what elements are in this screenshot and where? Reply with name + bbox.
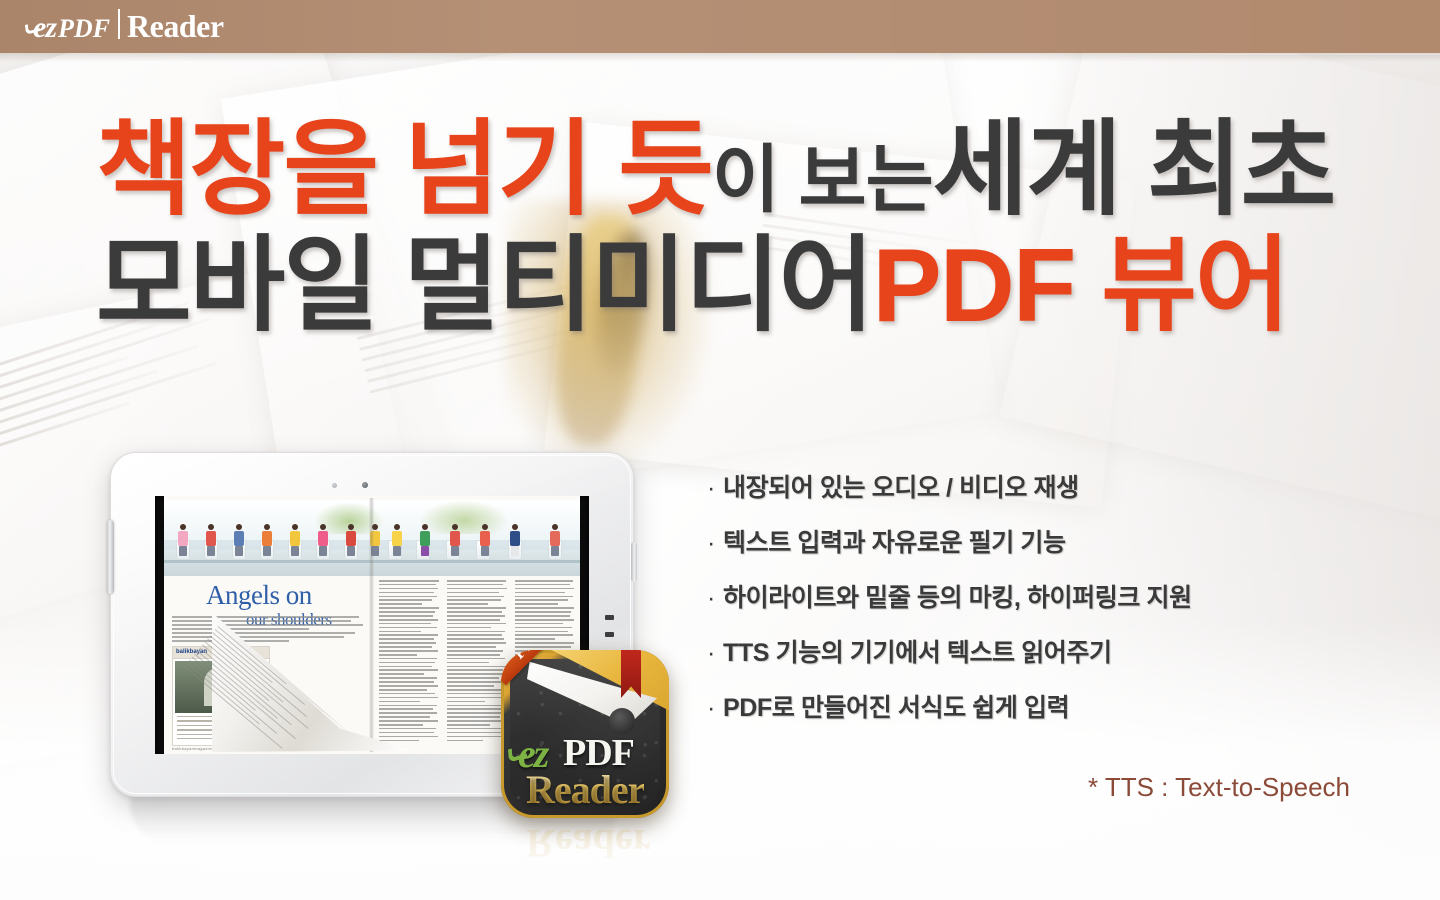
magazine-ad-form (173, 716, 269, 739)
app-icon-reader-text: Reader (526, 766, 644, 813)
list-item: · TTS 기능의 기기에서 텍스트 읽어주기 (705, 638, 1365, 668)
photo-greenery (419, 500, 509, 534)
magazine-ad-box: balikbayan (172, 646, 270, 746)
headline-highlight-1: 책장을 넘기 듯 (96, 112, 712, 228)
list-item: · 내장되어 있는 오디오 / 비디오 재생 (705, 473, 1365, 503)
logo-divider (118, 9, 120, 39)
feature-text: 하이라이트와 밑줄 등의 마킹, 하이퍼링크 지원 (723, 583, 1192, 613)
bullet-icon: · (705, 473, 723, 503)
app-icon-reflection: Reader (501, 820, 669, 880)
tablet-sensor-icon (332, 483, 337, 488)
footnote: * TTS : Text-to-Speech (705, 772, 1350, 803)
app-icon[interactable]: PRO ez PDF Reader (501, 650, 669, 818)
magazine-ad-image (175, 661, 267, 713)
magazine-gutter (369, 498, 374, 752)
bullet-icon: · (705, 693, 723, 723)
logo-ez-text: ez (33, 11, 56, 45)
tablet-camera-icon (362, 482, 368, 488)
logo-reader-text: Reader (127, 8, 224, 45)
bullet-icon: · (705, 638, 723, 668)
headline-mid-1: 이 보는 (712, 138, 933, 221)
headline-highlight-2: PDF 뷰어 (872, 228, 1288, 344)
feature-text: 내장되어 있는 오디오 / 비디오 재생 (723, 473, 1079, 503)
feature-text: 텍스트 입력과 자유로운 필기 기능 (723, 528, 1066, 558)
magazine-left-text (172, 616, 367, 644)
page-title: 책장을 넘기 듯이 보는세계 최초 모바일 멀티미디어PDF 뷰어 (96, 118, 1386, 338)
header-dropshadow (0, 53, 1440, 62)
bullet-icon: · (705, 528, 723, 558)
headline-line-2: 모바일 멀티미디어PDF 뷰어 (96, 234, 1386, 338)
app-icon-reflection-text: Reader (526, 820, 669, 867)
brand-logo: ez PDF Reader (33, 7, 224, 47)
feature-text: TTS 기능의 기기에서 텍스트 읽어주기 (723, 638, 1112, 668)
list-item: · 하이라이트와 밑줄 등의 마킹, 하이퍼링크 지원 (705, 583, 1365, 613)
tablet-power-button[interactable] (107, 520, 114, 594)
bullet-icon: · (705, 583, 723, 613)
headline-dark-2: 모바일 멀티미디어 (96, 228, 872, 344)
tablet-volume-button[interactable] (631, 542, 637, 582)
headline-line-1: 책장을 넘기 듯이 보는세계 최초 (96, 118, 1386, 222)
magazine-ad-headline: balikbayan (173, 647, 269, 659)
list-item: · 텍스트 입력과 자유로운 필기 기능 (705, 528, 1365, 558)
magazine-footer-left: balikbayanmagazine.com (172, 746, 224, 751)
app-icon-body: PRO ez PDF Reader (501, 650, 669, 818)
promo-page: ez PDF Reader 책장을 넘기 듯이 보는세계 최초 모바일 멀티미디… (0, 0, 1440, 900)
magazine-headline-main: Angels on (206, 580, 312, 610)
logo-pdf-text: PDF (58, 14, 110, 44)
headline-tail-1: 세계 최초 (933, 112, 1335, 228)
feature-list: · 내장되어 있는 오디오 / 비디오 재생 · 텍스트 입력과 자유로운 필기… (705, 473, 1365, 748)
list-item: · PDF로 만들어진 서식도 쉽게 입력 (705, 693, 1365, 723)
magazine-column (379, 580, 439, 748)
tablet-nav-keys[interactable] (605, 615, 614, 637)
feature-text: PDF로 만들어진 서식도 쉽게 입력 (723, 693, 1069, 723)
app-header-bar: ez PDF Reader (0, 0, 1440, 53)
magazine-column (447, 580, 507, 748)
